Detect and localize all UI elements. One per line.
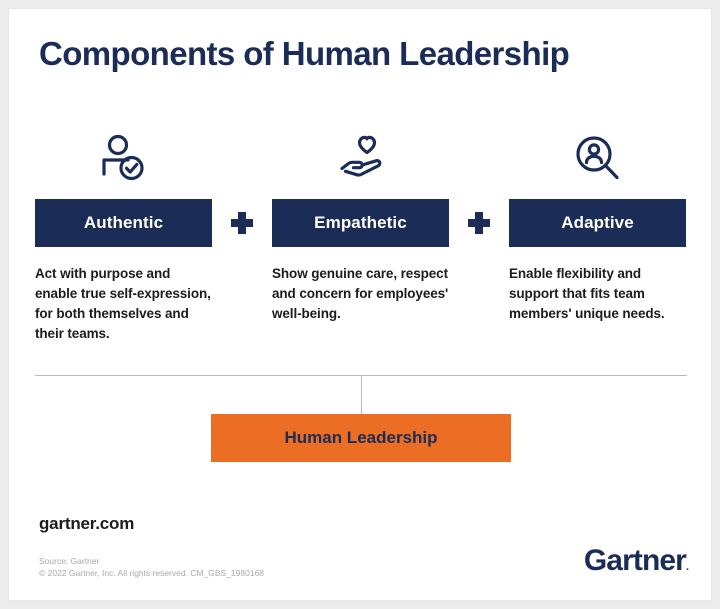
result-label: Human Leadership — [284, 428, 437, 448]
plus-icon — [231, 212, 253, 234]
hand-heart-icon — [272, 129, 449, 187]
vertical-connector-line — [361, 375, 362, 415]
person-check-icon — [35, 129, 212, 187]
copyright-line: © 2022 Gartner, Inc. All rights reserved… — [39, 568, 264, 580]
component-column-adaptive: Adaptive Enable flexibility and support … — [509, 129, 686, 324]
component-description: Enable flexibility and support that fits… — [509, 264, 686, 324]
source-line: Source: Gartner — [39, 556, 264, 568]
component-column-authentic: Authentic Act with purpose and enable tr… — [35, 129, 212, 344]
registered-mark: . — [686, 561, 689, 573]
component-label-box-adaptive: Adaptive — [509, 199, 686, 247]
component-description: Show genuine care, respect and concern f… — [272, 264, 449, 324]
component-label: Adaptive — [561, 213, 634, 233]
plus-operator-1 — [212, 197, 272, 249]
component-label: Empathetic — [314, 213, 407, 233]
components-row: Authentic Act with purpose and enable tr… — [35, 129, 687, 344]
plus-icon — [468, 212, 490, 234]
site-url: gartner.com — [39, 514, 134, 534]
infographic-card: Components of Human Leadership Authentic… — [8, 8, 712, 601]
result-box-human-leadership: Human Leadership — [211, 414, 511, 462]
component-label: Authentic — [84, 213, 163, 233]
page-title: Components of Human Leadership — [39, 35, 569, 73]
component-description: Act with purpose and enable true self-ex… — [35, 264, 212, 344]
plus-operator-2 — [449, 197, 509, 249]
person-magnifier-icon — [509, 129, 686, 187]
component-label-box-authentic: Authentic — [35, 199, 212, 247]
legal-text: Source: Gartner © 2022 Gartner, Inc. All… — [39, 556, 264, 579]
component-label-box-empathetic: Empathetic — [272, 199, 449, 247]
component-column-empathetic: Empathetic Show genuine care, respect an… — [272, 129, 449, 324]
gartner-logo: Gartner. — [584, 544, 689, 578]
gartner-logo-text: Gartner — [584, 544, 686, 577]
